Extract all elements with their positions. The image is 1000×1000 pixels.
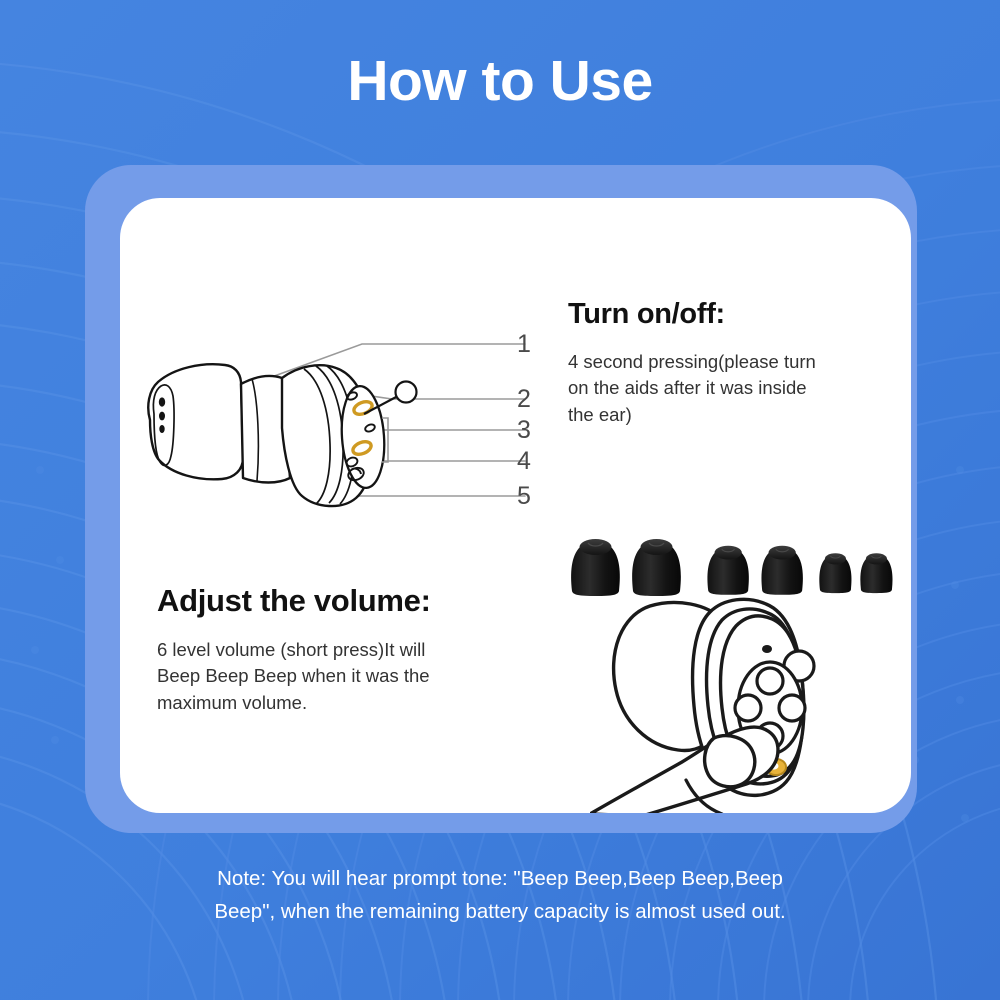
callout-number-5: 5 [517,484,531,509]
page-title: How to Use [0,52,1000,112]
how-to-use-page: How to Use [0,0,1000,1000]
hearing-aid-diagram: 1 2 3 4 5 [130,248,560,508]
adjust-volume-heading: Adjust the volume: [157,583,517,619]
callout-number-2: 2 [517,387,531,412]
callout-number-1: 1 [517,332,531,357]
turn-on-off-body: 4 second pressing(please turn on the aid… [568,349,888,428]
section-turn-on-off: Turn on/off: 4 second pressing(please tu… [568,298,888,428]
hand-pressing-device-illustration [590,586,910,813]
adjust-volume-body: 6 level volume (short press)It will Beep… [157,637,517,716]
footer-note-line-2: Beep", when the remaining battery capaci… [0,895,1000,928]
content-card: 1 2 3 4 5 Turn on/off: 4 second pressing… [120,198,911,813]
footer-note: Note: You will hear prompt tone: "Beep B… [0,862,1000,928]
turn-on-off-heading: Turn on/off: [568,298,888,331]
footer-note-line-1: Note: You will hear prompt tone: "Beep B… [0,862,1000,895]
callout-number-4: 4 [517,449,531,474]
section-adjust-volume: Adjust the volume: 6 level volume (short… [157,583,517,716]
callout-number-3: 3 [517,418,531,443]
callout-number-list: 1 2 3 4 5 [517,308,557,538]
